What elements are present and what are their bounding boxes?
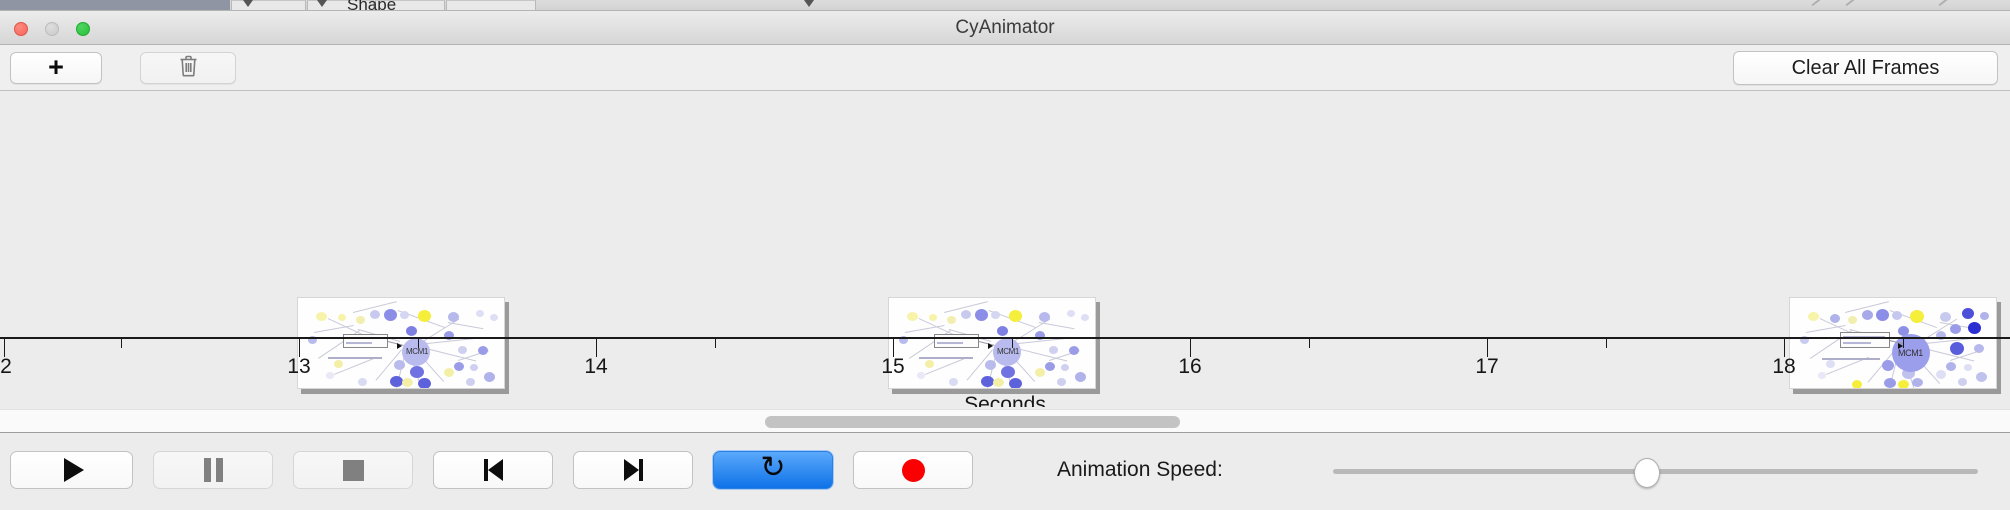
frame-thumbnail: MCM1 (888, 297, 1096, 389)
axis-tick-label: 2 (0, 355, 12, 379)
close-window-button[interactable] (14, 22, 28, 36)
frame-thumbnail: MCM1 (297, 297, 505, 389)
axis-tick-minor (1606, 339, 1607, 348)
timeline-scrollbar-thumb[interactable] (765, 416, 1180, 428)
chevron-down-icon (243, 0, 253, 7)
next-frame-button[interactable] (573, 451, 693, 489)
axis-tick-label: 17 (1475, 355, 1498, 379)
axis-title: Seconds (0, 393, 2010, 407)
clear-all-frames-label: Clear All Frames (1792, 57, 1940, 80)
delete-frame-button[interactable] (140, 52, 236, 84)
trash-icon (178, 54, 199, 83)
axis-tick-minor (1903, 339, 1904, 348)
timeline-frame[interactable]: MCM1 (297, 297, 509, 393)
axis-tick-label: 16 (1178, 355, 1201, 379)
title-bar: CyAnimator (0, 11, 2010, 45)
timeline-frame[interactable]: MCM1 (1789, 297, 2001, 393)
timeline-panel[interactable]: MCM1 (0, 91, 2010, 407)
record-button[interactable] (853, 451, 973, 489)
loop-button[interactable]: ↻ (713, 451, 833, 489)
background-slash-icon (1846, 0, 1856, 6)
background-slash-icon (1812, 0, 1822, 6)
axis-tick-minor (418, 339, 419, 348)
pause-icon (204, 458, 223, 482)
stop-icon (343, 460, 364, 481)
skip-back-icon (484, 459, 503, 481)
timeline-axis (0, 337, 2010, 339)
chevron-down-icon (804, 0, 814, 7)
clear-all-frames-button[interactable]: Clear All Frames (1733, 51, 1998, 85)
animation-speed-label: Animation Speed: (1057, 451, 1223, 489)
axis-tick-minor (715, 339, 716, 348)
loop-icon: ↻ (760, 453, 785, 483)
axis-tick-label: 15 (881, 355, 904, 379)
cyanimator-window: Shape CyAnimator + (0, 0, 2010, 510)
axis-tick-minor (1309, 339, 1310, 348)
record-icon (902, 459, 925, 482)
timeline-scrollbar[interactable] (0, 409, 2010, 433)
play-icon (64, 458, 84, 482)
frame-thumbnail: MCM1 (1789, 297, 1997, 389)
playback-controls: ↻ Animation Speed: (0, 434, 2010, 510)
pause-button[interactable] (153, 451, 273, 489)
axis-tick-label: 14 (584, 355, 607, 379)
minimize-window-button[interactable] (45, 22, 59, 36)
animation-speed-slider-thumb[interactable] (1634, 458, 1660, 488)
add-frame-button[interactable]: + (10, 52, 102, 84)
chevron-down-icon (317, 0, 327, 7)
plus-icon: + (48, 54, 64, 81)
toolbar: + Clear All Frames (0, 45, 2010, 91)
stop-button[interactable] (293, 451, 413, 489)
axis-tick-minor (1012, 339, 1013, 348)
timeline-frame[interactable]: MCM1 (888, 297, 1100, 393)
axis-tick-label: 13 (287, 355, 310, 379)
previous-frame-button[interactable] (433, 451, 553, 489)
axis-tick-label: 18 (1772, 355, 1795, 379)
window-title: CyAnimator (0, 11, 2010, 45)
play-button[interactable] (10, 451, 133, 489)
background-slash-icon (1939, 0, 1949, 6)
axis-tick-minor (121, 339, 122, 348)
skip-forward-icon (624, 459, 643, 481)
maximize-window-button[interactable] (76, 22, 90, 36)
